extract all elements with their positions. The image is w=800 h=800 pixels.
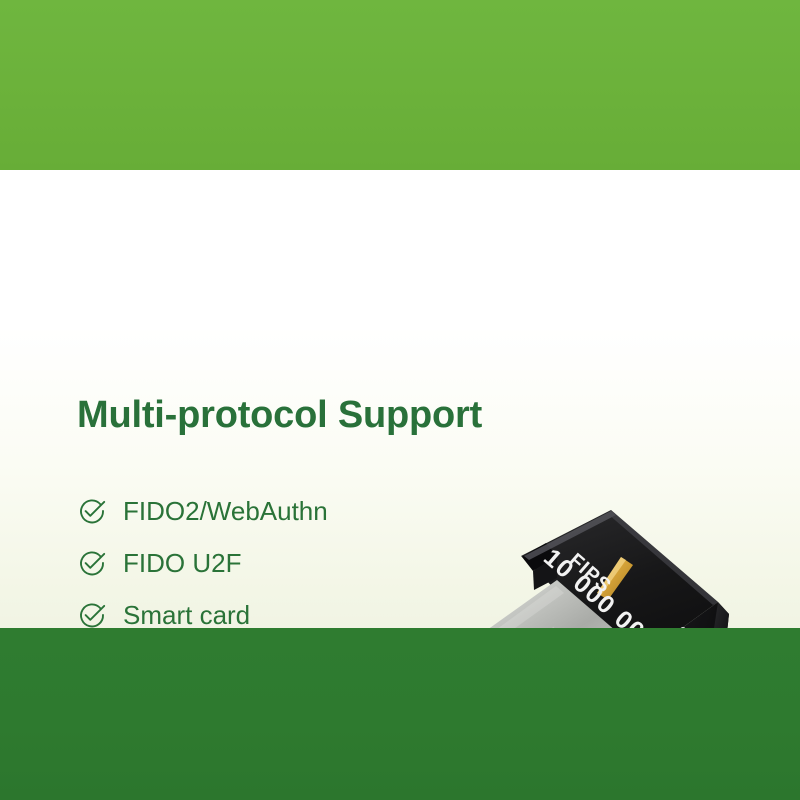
bottom-green-band — [0, 628, 800, 800]
top-green-band — [0, 0, 800, 170]
feature-label: FIDO2/WebAuthn — [123, 496, 328, 526]
content-block: Multi-protocol Support FIDO2/WebAuthn — [77, 392, 497, 438]
check-circle-icon — [77, 600, 107, 630]
check-circle-icon — [77, 496, 107, 526]
feature-label: FIDO U2F — [123, 548, 241, 578]
slide-canvas: Multi-protocol Support FIDO2/WebAuthn — [0, 0, 800, 800]
list-item: FIDO2/WebAuthn — [77, 485, 497, 537]
page-title: Multi-protocol Support — [77, 392, 497, 438]
content-stage: Multi-protocol Support FIDO2/WebAuthn — [0, 170, 800, 628]
check-circle-icon — [77, 548, 107, 578]
feature-label: Smart card — [123, 600, 250, 630]
list-item: FIDO U2F — [77, 537, 497, 589]
